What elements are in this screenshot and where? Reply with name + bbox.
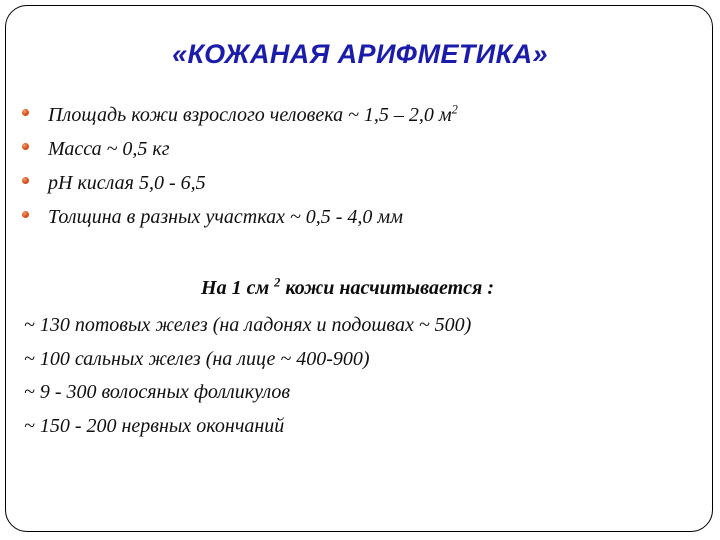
list-item: Толщина в разных участках ~ 0,5 - 4,0 мм: [22, 206, 682, 240]
list-item: ~ 9 - 300 волосяных фолликулов: [24, 381, 694, 415]
list-item-label: Площадь кожи взрослого человека ~ 1,5 – …: [48, 104, 682, 127]
list-item-text: pH кислая 5,0 - 6,5: [48, 172, 206, 194]
bullet-dot-icon: [22, 143, 29, 150]
slide-border-frame: [5, 5, 713, 532]
page-title: «КОЖАНАЯ АРИФМЕТИКА»: [0, 39, 720, 70]
list-item: pH кислая 5,0 - 6,5: [22, 172, 682, 206]
bullet-dot-icon: [22, 211, 29, 218]
list-item-text: Толщина в разных участках ~ 0,5 - 4,0 мм: [48, 206, 403, 228]
list-item-label: Масса ~ 0,5 кг: [48, 138, 682, 161]
slide: «КОЖАНАЯ АРИФМЕТИКА» Площадь кожи взросл…: [0, 0, 720, 540]
list-item-text: Площадь кожи взрослого человека ~ 1,5 – …: [48, 104, 452, 126]
section-heading-text-after: кожи насчитывается :: [280, 277, 494, 299]
bullet-dot-icon: [22, 109, 29, 116]
list-item-text: Масса ~ 0,5 кг: [48, 138, 170, 160]
bullet-dot-icon: [22, 177, 29, 184]
section-heading-text-before: На 1 см: [201, 277, 274, 299]
list-item-label: pH кислая 5,0 - 6,5: [48, 172, 682, 195]
list-item: ~ 130 потовых желез (на ладонях и подошв…: [24, 314, 694, 348]
superscript-square: 2: [452, 102, 458, 116]
list-item: ~ 100 сальных желез (на лице ~ 400-900): [24, 348, 694, 382]
list-item-label: Толщина в разных участках ~ 0,5 - 4,0 мм: [48, 206, 682, 229]
list-item: Масса ~ 0,5 кг: [22, 138, 682, 172]
facts-bullet-list: Площадь кожи взрослого человека ~ 1,5 – …: [22, 104, 682, 240]
counts-list: ~ 130 потовых желез (на ладонях и подошв…: [24, 314, 694, 448]
section-heading: На 1 см 2 кожи насчитывается :: [0, 277, 695, 300]
list-item: ~ 150 - 200 нервных окончаний: [24, 415, 694, 449]
list-item: Площадь кожи взрослого человека ~ 1,5 – …: [22, 104, 682, 138]
